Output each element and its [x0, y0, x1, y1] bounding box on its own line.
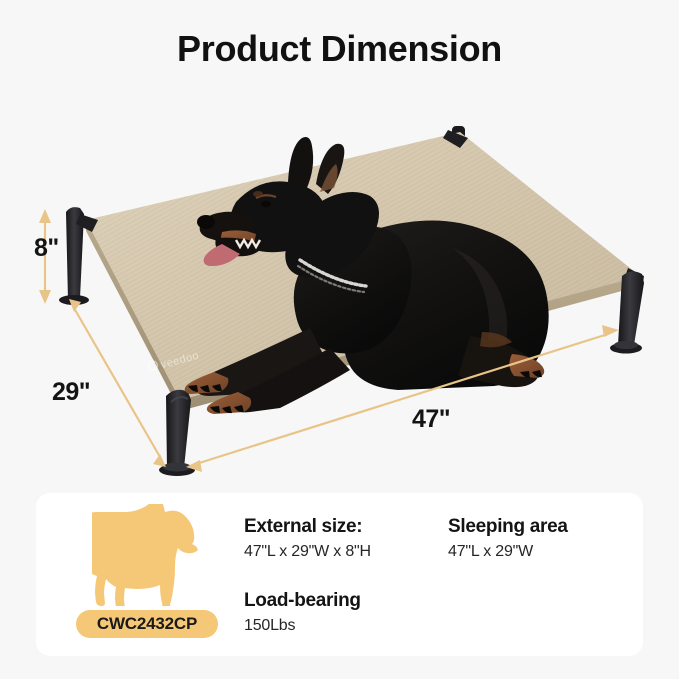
sku-badge: CWC2432CP: [76, 610, 218, 638]
spec-sleeping-area-value: 47"L x 29"W: [448, 541, 568, 563]
dimension-label-width: 29": [52, 378, 90, 407]
dimension-label-height: 8": [34, 234, 59, 263]
spec-sleeping-area: Sleeping area 47"L x 29"W: [448, 515, 568, 563]
spec-load-bearing-value: 150Lbs: [244, 615, 361, 637]
dimension-label-length: 47": [412, 405, 450, 434]
bed-leg-front-left: [159, 390, 195, 476]
product-info-card: CWC2432CP External size: 47"L x 29"W x 8…: [36, 493, 643, 656]
spec-external-size-title: External size:: [244, 515, 371, 538]
dog-silhouette-icon: [92, 504, 204, 606]
spec-external-size-value: 47"L x 29"W x 8"H: [244, 541, 371, 563]
product-photo: veedoo: [0, 80, 679, 480]
spec-external-size: External size: 47"L x 29"W x 8"H: [244, 515, 371, 563]
spec-load-bearing: Load-bearing 150Lbs: [244, 589, 361, 637]
infographic-stage: Product Dimension: [0, 0, 679, 679]
page-title: Product Dimension: [0, 28, 679, 70]
spec-load-bearing-title: Load-bearing: [244, 589, 361, 612]
spec-sleeping-area-title: Sleeping area: [448, 515, 568, 538]
